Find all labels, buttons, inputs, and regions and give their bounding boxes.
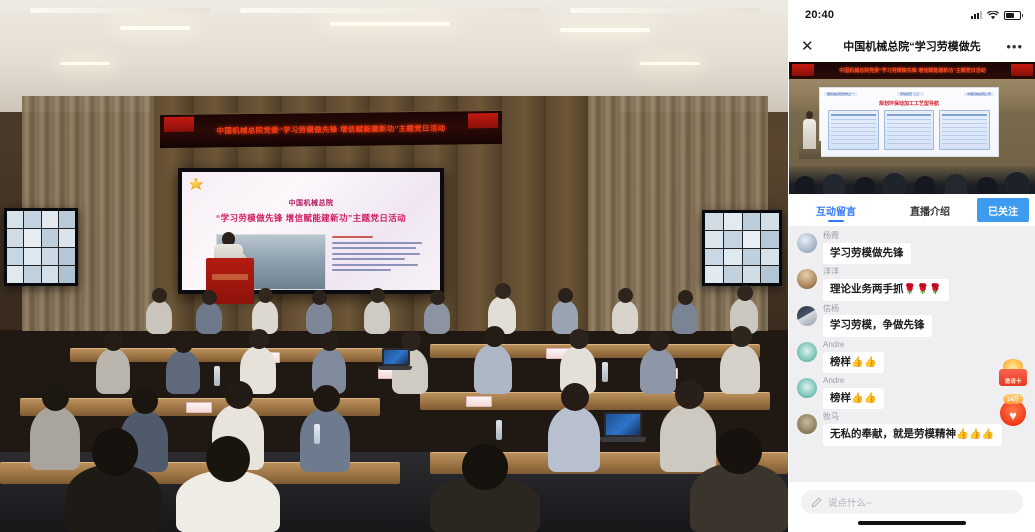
status-clock: 20:40 bbox=[805, 9, 834, 21]
ceiling-panel bbox=[30, 8, 210, 13]
status-bar: 20:40 bbox=[789, 0, 1035, 30]
close-icon[interactable]: ✕ bbox=[801, 39, 819, 54]
comment-item: 牧马 无私的奉献，就是劳模精神👍👍👍 bbox=[797, 413, 1025, 445]
live-speaker-head bbox=[806, 111, 813, 119]
audience-head bbox=[484, 326, 505, 347]
live-led-banner: 中国机械总院党委“学习劳模做先锋 增信赋能建新功”主题党日活动 bbox=[789, 62, 1035, 79]
page-title: 中国机械总院“学习劳模做先 bbox=[819, 38, 1005, 54]
comment-username: Andre bbox=[823, 341, 884, 350]
audience-head bbox=[225, 381, 253, 409]
water-bottle bbox=[314, 424, 320, 444]
name-card bbox=[186, 402, 212, 413]
avatar[interactable] bbox=[797, 414, 817, 434]
ceiling-light bbox=[640, 62, 700, 65]
audience-head bbox=[370, 288, 385, 303]
comment-bubble: 学习劳模，争做先锋 bbox=[823, 315, 932, 337]
audience-person bbox=[196, 302, 222, 334]
audience-head bbox=[731, 326, 752, 347]
party-emblem-icon bbox=[188, 177, 204, 191]
ceiling-light bbox=[120, 26, 190, 30]
audience-person bbox=[612, 300, 638, 334]
led-banner: 中国机械总院党委“学习劳模做先锋 增信赋能建新功”主题党日活动 bbox=[160, 110, 502, 148]
live-slide-title: 规划环保动加工工艺型导航 bbox=[820, 100, 998, 107]
ceiling-light bbox=[60, 62, 110, 65]
slide-title-line2: “学习劳模做先锋 增信赋能建新功”主题党日活动 bbox=[182, 212, 440, 224]
audience-head bbox=[104, 332, 123, 351]
comment-bubble: 榜样👍👍 bbox=[823, 388, 884, 410]
audience-head bbox=[320, 332, 339, 351]
conference-photo: 中国机械总院党委“学习劳模做先锋 增信赋能建新功”主题党日活动 中国机械总院 “… bbox=[0, 0, 788, 532]
comment-emoji: 👍👍👍 bbox=[956, 429, 995, 440]
comment-emoji: 👍👍 bbox=[851, 393, 877, 404]
comment-bubble: 理论业务两手抓🌹🌹🌹 bbox=[823, 279, 949, 301]
comment-username: 信杨 bbox=[823, 305, 932, 314]
audience-head bbox=[618, 288, 633, 303]
wifi-icon bbox=[987, 11, 999, 20]
comment-text: 学习劳模做先锋 bbox=[830, 247, 904, 259]
live-banner-badge-right bbox=[1011, 64, 1033, 76]
ceiling-panel bbox=[570, 8, 760, 13]
audience-head bbox=[678, 290, 693, 305]
ceiling-light bbox=[560, 28, 650, 32]
floating-action-widgets: 邀请卡 14万 ♥ bbox=[998, 359, 1028, 426]
audience-person bbox=[364, 300, 390, 334]
live-curtain-right bbox=[1002, 79, 1035, 151]
slide-text-lines bbox=[332, 236, 430, 275]
audience-person bbox=[474, 344, 512, 394]
banner-badge-left bbox=[164, 117, 194, 132]
laptop bbox=[378, 348, 412, 370]
audience-head bbox=[649, 331, 669, 351]
banner-text: 中国机械总院党委“学习劳模做先锋 增信赋能建新功”主题党日活动 bbox=[217, 123, 446, 137]
ceiling-light bbox=[330, 22, 450, 26]
comment-username: 洋洋 bbox=[823, 268, 949, 277]
name-card bbox=[466, 396, 492, 407]
video-wall-left bbox=[4, 208, 78, 286]
home-indicator bbox=[858, 521, 966, 525]
audience-head bbox=[675, 380, 704, 409]
audience-head bbox=[313, 385, 340, 412]
audience-head bbox=[495, 283, 511, 299]
video-wall-right bbox=[702, 210, 782, 286]
audience-head bbox=[569, 329, 589, 349]
comment-item: 信杨 学习劳模，争做先锋 bbox=[797, 305, 1025, 337]
comment-username: 牧马 bbox=[823, 413, 1002, 422]
live-banner-badge-left bbox=[792, 64, 814, 76]
comment-text: 学习劳模，争做先锋 bbox=[830, 319, 925, 331]
live-slide-screen: 国机械总院党委之一 劳动模范（二） 中国机械总院公司 规划环保动加工工艺型导航 bbox=[819, 87, 999, 157]
avatar[interactable] bbox=[797, 306, 817, 326]
audience-head bbox=[716, 428, 762, 474]
audience-head bbox=[206, 436, 250, 482]
water-bottle bbox=[496, 420, 502, 440]
comment-username: Andre bbox=[823, 377, 884, 386]
audience-head bbox=[174, 334, 193, 353]
comment-bubble: 榜样👍👍 bbox=[823, 352, 884, 374]
nav-bar: ✕ 中国机械总院“学习劳模做先 ••• bbox=[789, 30, 1035, 62]
tab-interactive-comments[interactable]: 互动留言 bbox=[789, 194, 883, 226]
audience-person bbox=[30, 406, 80, 470]
comment-input-placeholder: 说点什么~ bbox=[828, 495, 872, 509]
audience-person bbox=[672, 302, 698, 334]
audience-head bbox=[462, 444, 508, 490]
comment-item: 洋洋 理论业务两手抓🌹🌹🌹 bbox=[797, 268, 1025, 300]
audience-head bbox=[42, 384, 69, 411]
gift-label: 邀请卡 bbox=[998, 377, 1028, 385]
water-bottle bbox=[214, 366, 220, 386]
slide-title-line1: 中国机械总院 bbox=[182, 198, 440, 208]
like-count: 14万 bbox=[1003, 394, 1023, 404]
slide-brand: 中国机械总院公司 bbox=[964, 92, 994, 96]
audience-person bbox=[640, 348, 676, 394]
gift-red-packet-icon[interactable]: 邀请卡 bbox=[998, 359, 1028, 387]
audience-head bbox=[132, 388, 158, 414]
comments-list[interactable]: 杨霞 学习劳模做先锋 洋洋 理论业务两手抓🌹🌹🌹 信杨 学习劳模，争做先锋 bbox=[789, 226, 1035, 482]
comment-item: Andre 榜样👍👍 bbox=[797, 377, 1025, 409]
audience-person bbox=[548, 406, 600, 472]
audience-person bbox=[720, 344, 760, 394]
heart-like-icon[interactable]: 14万 ♥ bbox=[998, 394, 1028, 426]
comment-text: 榜样 bbox=[830, 392, 851, 404]
audience-person bbox=[146, 300, 172, 334]
audience-person bbox=[300, 408, 350, 472]
screenshot-root: 中国机械总院党委“学习劳模做先锋 增信赋能建新功”主题党日活动 中国机械总院 “… bbox=[0, 0, 1035, 532]
comment-text: 无私的奉献，就是劳模精神 bbox=[830, 428, 956, 440]
audience-head bbox=[561, 383, 589, 411]
live-slide-cards bbox=[828, 110, 990, 150]
audience-head bbox=[152, 288, 167, 303]
comment-username: 杨霞 bbox=[823, 232, 911, 241]
ceiling-panel bbox=[240, 8, 540, 13]
comment-input-bar: 说点什么~ bbox=[789, 482, 1035, 532]
tab-bar: 互动留言 直播介绍 已关注 bbox=[789, 194, 1035, 226]
comment-bubble: 无私的奉献，就是劳模精神👍👍👍 bbox=[823, 424, 1002, 446]
audience-head bbox=[258, 288, 273, 303]
audience-person bbox=[424, 302, 450, 334]
audience-head bbox=[249, 329, 269, 349]
audience-person bbox=[306, 302, 332, 334]
audience-head bbox=[558, 288, 573, 303]
audience-head bbox=[430, 290, 445, 305]
tab-live-intro[interactable]: 直播介绍 bbox=[883, 194, 977, 226]
signal-bars-icon bbox=[971, 11, 982, 19]
laptop bbox=[600, 412, 646, 442]
avatar[interactable] bbox=[797, 233, 817, 253]
comment-item: Andre 榜样👍👍 bbox=[797, 341, 1025, 373]
audience-person bbox=[166, 350, 200, 394]
water-bottle bbox=[602, 362, 608, 382]
pencil-icon bbox=[811, 497, 822, 508]
comment-input[interactable]: 说点什么~ bbox=[801, 490, 1023, 514]
comment-emoji: 👍👍 bbox=[851, 357, 877, 368]
comment-text: 榜样 bbox=[830, 356, 851, 368]
avatar[interactable] bbox=[797, 269, 817, 289]
comment-text: 理论业务两手抓 bbox=[830, 283, 904, 295]
live-speaker-body bbox=[803, 119, 816, 149]
comment-item: 杨霞 学习劳模做先锋 bbox=[797, 232, 1025, 264]
live-banner-text: 中国机械总院党委“学习劳模做先锋 增信赋能建新功”主题党日活动 bbox=[839, 67, 985, 74]
battery-icon bbox=[1004, 11, 1021, 20]
live-video-player[interactable]: 国机械总院党委之一 劳动模范（二） 中国机械总院公司 规划环保动加工工艺型导航 bbox=[789, 62, 1035, 194]
avatar[interactable] bbox=[797, 378, 817, 398]
audience-head bbox=[312, 290, 327, 305]
slide-header-left: 国机械总院党委之一 bbox=[824, 92, 857, 96]
audience-person bbox=[96, 348, 130, 394]
slide-header-right: 劳动模范（二） bbox=[897, 92, 924, 96]
audience-person bbox=[660, 404, 716, 472]
comment-bubble: 学习劳模做先锋 bbox=[823, 243, 911, 265]
audience-head bbox=[202, 290, 217, 305]
follow-button[interactable]: 已关注 bbox=[977, 198, 1029, 222]
more-options-icon[interactable]: ••• bbox=[1005, 39, 1023, 54]
audience-head bbox=[737, 285, 753, 301]
live-audience bbox=[789, 166, 1035, 194]
avatar[interactable] bbox=[797, 342, 817, 362]
audience-head bbox=[92, 428, 138, 476]
banner-badge-right bbox=[468, 113, 498, 128]
phone-live-panel: 20:40 ✕ 中国机械总院“学习劳模做先 ••• bbox=[788, 0, 1035, 532]
comment-emoji: 🌹🌹🌹 bbox=[904, 284, 943, 295]
live-room-scene: 国机械总院党委之一 劳动模范（二） 中国机械总院公司 规划环保动加工工艺型导航 bbox=[789, 79, 1035, 194]
